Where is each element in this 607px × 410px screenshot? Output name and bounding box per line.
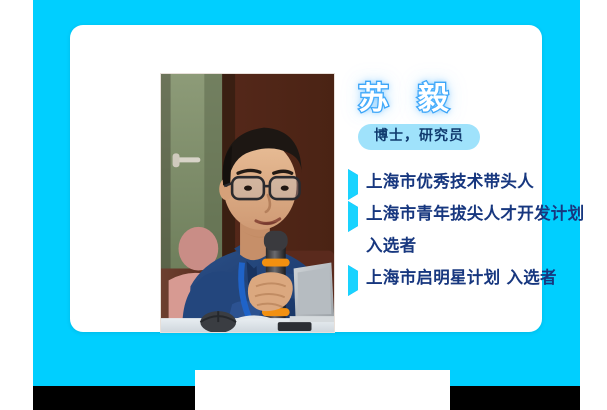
list-item: 上海市优秀技术带头人 — [348, 167, 606, 196]
triangle-bullet-icon — [348, 199, 366, 226]
list-item: 上海市启明星计划 入选者 — [348, 263, 606, 292]
profile-card-slide: 苏 毅 博士，研究员 上海市优秀技术带头人 上海市青年拔尖人才开发计划 入选者 — [0, 0, 607, 410]
profile-content: 苏 毅 博士，研究员 上海市优秀技术带头人 上海市青年拔尖人才开发计划 入选者 — [348, 77, 606, 332]
credential-text: 上海市启明星计划 入选者 — [366, 263, 606, 292]
credential-text: 入选者 — [366, 231, 606, 260]
credential-text: 上海市优秀技术带头人 — [366, 167, 606, 196]
credential-text: 上海市青年拔尖人才开发计划 — [366, 199, 606, 228]
speaker-photo — [160, 73, 335, 333]
title-badge: 博士，研究员 — [358, 124, 480, 150]
list-item: 上海市青年拔尖人才开发计划 — [348, 199, 606, 228]
triangle-bullet-icon — [348, 167, 366, 194]
speaker-name: 苏 毅 — [358, 77, 606, 121]
bottom-white-notch — [195, 370, 450, 410]
triangle-bullet-icon-hidden — [348, 231, 366, 258]
triangle-bullet-icon — [348, 263, 366, 290]
profile-card: 苏 毅 博士，研究员 上海市优秀技术带头人 上海市青年拔尖人才开发计划 入选者 — [70, 25, 542, 332]
speaker-photo-image — [161, 74, 334, 332]
list-item-continuation: 入选者 — [348, 231, 606, 260]
credentials-list: 上海市优秀技术带头人 上海市青年拔尖人才开发计划 入选者 上海市启明星计划 入选… — [348, 167, 606, 292]
